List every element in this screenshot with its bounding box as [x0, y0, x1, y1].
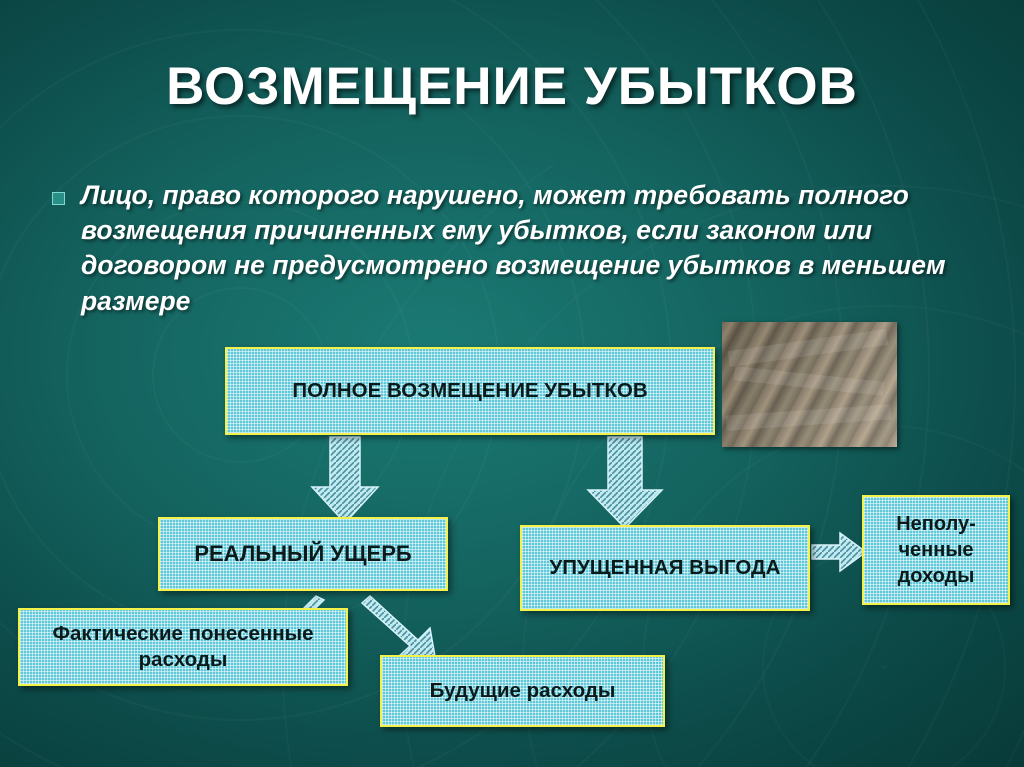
edge-full-lost — [588, 437, 662, 528]
node-actual-expenses-label: Фактические понесенные расходы — [20, 621, 346, 672]
node-unreceived-income[interactable]: Неполу-ченные доходы — [862, 495, 1010, 605]
node-actual-expenses[interactable]: Фактические понесенные расходы — [18, 608, 348, 686]
node-full-compensation-label: ПОЛНОЕ ВОЗМЕЩЕНИЕ УБЫТКОВ — [292, 379, 647, 403]
node-future-expenses-label: Будущие расходы — [430, 679, 616, 703]
node-unreceived-income-label: Неполу-ченные доходы — [864, 511, 1008, 589]
node-real-damage-label: РЕАЛЬНЫЙ УЩЕРБ — [194, 541, 411, 567]
edge-lost-income — [812, 533, 866, 571]
node-real-damage[interactable]: РЕАЛЬНЫЙ УЩЕРБ — [158, 517, 448, 591]
bullet-block: Лицо, право которого нарушено, может тре… — [52, 178, 952, 319]
node-full-compensation[interactable]: ПОЛНОЕ ВОЗМЕЩЕНИЕ УБЫТКОВ — [225, 347, 715, 435]
bullet-text: Лицо, право которого нарушено, может тре… — [81, 178, 952, 319]
edge-full-real — [312, 437, 378, 523]
node-lost-profit[interactable]: УПУЩЕННАЯ ВЫГОДА — [520, 525, 810, 611]
page-title: ВОЗМЕЩЕНИЕ УБЫТКОВ — [0, 56, 1024, 117]
banknotes-photo — [722, 322, 897, 447]
slide: ВОЗМЕЩЕНИЕ УБЫТКОВ Лицо, право которого … — [0, 0, 1024, 767]
node-lost-profit-label: УПУЩЕННАЯ ВЫГОДА — [550, 555, 781, 581]
bullet-square-icon — [52, 192, 65, 205]
node-future-expenses[interactable]: Будущие расходы — [380, 655, 665, 727]
